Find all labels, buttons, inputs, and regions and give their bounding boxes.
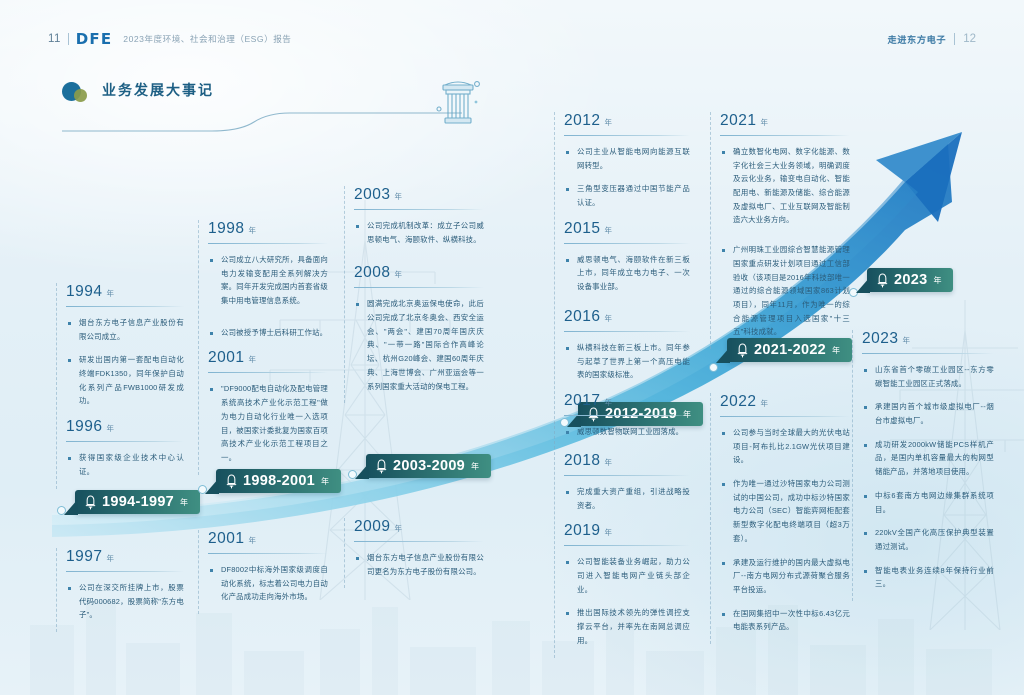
milestone-list: 公司智能装备业务崛起，助力公司进入智能电网产业链头部企业。 推出国际技术领先的弹…	[564, 555, 690, 647]
timeline-column-2018: 2018 年 完成重大资产重组，引进战略投资者。 2019 年 公司智能装备业务…	[554, 452, 690, 658]
year-heading: 2009 年	[354, 518, 484, 536]
year-suffix: 年	[394, 523, 402, 534]
list-item: 智能电表业务连续8年保持行业前三。	[862, 564, 994, 591]
milestone-list: 山东省首个零碳工业园区--东方零碳智能工业园区正式落成。 承建国内首个城市级虚拟…	[862, 363, 994, 591]
year-block: 2001 年 "DF9000配电自动化及配电管理系统高技术产业化示范工程"做为电…	[198, 349, 328, 464]
list-item: "DF9000配电自动化及配电管理系统高技术产业化示范工程"做为电力自动化行业唯…	[208, 382, 328, 464]
year-suffix: 年	[604, 397, 612, 408]
year-block: 2008 年 圆满完成北京奥运保电使命，此后公司完成了北京冬奥会、西安全运会、"…	[344, 264, 484, 393]
year-rule	[66, 441, 184, 442]
milestone-list: 公司参与当时全球最大的光伏电站项目-阿布扎比2.1GW光伏项目建设。 作为唯一通…	[720, 426, 850, 634]
year-rule	[720, 135, 850, 136]
year-heading: 2023 年	[862, 330, 994, 348]
milestone-list: 威思顿数智物联网工业园落成。	[564, 425, 690, 439]
year-rule	[564, 475, 690, 476]
milestone-list: "DF9000配电自动化及配电管理系统高技术产业化示范工程"做为电力自动化行业唯…	[208, 382, 328, 464]
list-item: 公司参与当时全球最大的光伏电站项目-阿布扎比2.1GW光伏项目建设。	[720, 426, 850, 467]
list-item: DF8002中标海外国家级调度自动化系统，标志着公司电力自动化产品成功走向海外市…	[208, 563, 328, 604]
list-item: 纵横科技在新三板上市。同年参与起草了世界上第一个高压电能表的国家级标准。	[564, 341, 690, 382]
year-block: 2023 年 山东省首个零碳工业园区--东方零碳智能工业园区正式落成。 承建国内…	[852, 330, 994, 591]
badge-tail	[716, 347, 730, 363]
year-heading: 2008 年	[354, 264, 484, 282]
list-item: 确立数智化电网、数字化能源、数字化社会三大业务领域，明确调度及云化业务，输变电自…	[720, 145, 850, 227]
year-rule	[862, 353, 994, 354]
timeline-column-2023: 2023 年 山东省首个零碳工业园区--东方零碳智能工业园区正式落成。 承建国内…	[852, 330, 994, 601]
pillar-icon	[432, 76, 484, 126]
year-suffix: 年	[394, 269, 402, 280]
milestone-list: 完成重大资产重组，引进战略投资者。	[564, 485, 690, 512]
list-item: 作为唯一通过沙特国家电力公司测试的中国公司，成功中标沙特国家电力公司（SEC）智…	[720, 477, 850, 545]
badge-suffix: 年	[321, 476, 329, 487]
milestone-icon	[225, 474, 238, 489]
header-right-group: 走进东方电子 12	[887, 32, 976, 46]
badge-anchor-dot	[709, 363, 718, 372]
page-number-left: 11	[48, 33, 61, 45]
year-heading: 2022 年	[720, 393, 850, 411]
title-dots-icon	[62, 82, 92, 102]
year-suffix: 年	[760, 398, 768, 409]
year-number: 2019	[564, 522, 600, 540]
badge-suffix: 年	[471, 461, 479, 472]
page-title: 业务发展大事记	[102, 80, 214, 100]
list-item: 公司成立八大研究所，具备面向电力发输变配用全系列解决方案。同年开发完成国内首套省…	[208, 253, 328, 308]
year-suffix: 年	[248, 354, 256, 365]
report-subtitle: 2023年度环境、社会和治理（ESG）报告	[123, 33, 291, 45]
list-item: 公司智能装备业务崛起，助力公司进入智能电网产业链头部企业。	[564, 555, 690, 596]
era-badge-2003-2009[interactable]: 2003-2009 年	[366, 454, 491, 478]
year-number: 2018	[564, 452, 600, 470]
badge-tail	[856, 277, 870, 293]
year-rule	[354, 287, 484, 288]
year-suffix: 年	[760, 117, 768, 128]
milestone-icon	[375, 459, 388, 474]
year-number: 2009	[354, 518, 390, 536]
list-item: 承建及运行维护的国内最大虚拟电厂--南方电网分布式源荷聚合服务平台投运。	[720, 556, 850, 597]
milestone-icon	[876, 273, 889, 288]
year-rule	[720, 416, 850, 417]
year-rule	[564, 331, 690, 332]
milestone-list: 公司成立八大研究所，具备面向电力发输变配用全系列解决方案。同年开发完成国内首套省…	[208, 253, 328, 339]
page-header: 11 DFE 2023年度环境、社会和治理（ESG）报告 走进东方电子 12	[48, 28, 976, 50]
year-suffix: 年	[604, 117, 612, 128]
year-number: 2003	[354, 186, 390, 204]
list-item: 公司在深交所挂牌上市，股票代码000682，股票简称"东方电子"。	[66, 581, 184, 622]
year-suffix: 年	[902, 335, 910, 346]
list-item: 中标6套南方电网边缘集群系统项目。	[862, 489, 994, 516]
timeline-column-1997: 1997 年 公司在深交所挂牌上市，股票代码000682，股票简称"东方电子"。	[56, 548, 184, 632]
timeline-column-2009: 2009 年 烟台东方电子信息产业股份有限公司更名为东方电子股份有限公司。	[344, 518, 484, 588]
milestone-list: 获得国家级企业技术中心认证。	[66, 451, 184, 478]
badge-label: 1994-1997	[102, 494, 174, 510]
year-number: 2023	[862, 330, 898, 348]
list-item: 公司主业从智能电网向能源互联网转型。	[564, 145, 690, 172]
year-block: 2019 年 公司智能装备业务崛起，助力公司进入智能电网产业链头部企业。 推出国…	[554, 522, 690, 647]
milestone-list: 确立数智化电网、数字化能源、数字化社会三大业务领域，明确调度及云化业务，输变电自…	[720, 145, 850, 339]
list-item: 三角型变压器通过中国节能产品认证。	[564, 182, 690, 209]
milestone-list: 公司完成机制改革：成立子公司威思顿电气、海颐软件、纵横科技。	[354, 219, 484, 246]
year-rule	[564, 545, 690, 546]
section-breadcrumb: 走进东方电子	[887, 32, 946, 46]
timeline-column-2003: 2003 年 公司完成机制改革：成立子公司威思顿电气、海颐软件、纵横科技。 20…	[344, 186, 484, 403]
year-block: 2003 年 公司完成机制改革：成立子公司威思顿电气、海颐软件、纵横科技。	[344, 186, 484, 246]
year-number: 2012	[564, 112, 600, 130]
milestone-list: 公司在深交所挂牌上市，股票代码000682，股票简称"东方电子"。	[66, 581, 184, 622]
year-block: 1994 年 烟台东方电子信息产业股份有限公司成立。 研发出国内第一套配电自动化…	[56, 283, 184, 408]
year-suffix: 年	[106, 423, 114, 434]
year-heading: 2021 年	[720, 112, 850, 130]
year-heading: 2001 年	[208, 349, 328, 367]
year-rule	[66, 571, 184, 572]
milestone-list: 烟台东方电子信息产业股份有限公司更名为东方电子股份有限公司。	[354, 551, 484, 578]
year-heading: 1998 年	[208, 220, 328, 238]
list-item: 研发出国内第一套配电自动化终端FDK1350，同年保护自动化系列产品FWB100…	[66, 353, 184, 408]
year-number: 1997	[66, 548, 102, 566]
year-rule	[564, 243, 690, 244]
year-block: 1998 年 公司成立八大研究所，具备面向电力发输变配用全系列解决方案。同年开发…	[198, 220, 328, 339]
year-rule	[208, 553, 328, 554]
milestone-icon	[84, 495, 97, 510]
year-heading: 2012 年	[564, 112, 690, 130]
timeline-column-1998: 1998 年 公司成立八大研究所，具备面向电力发输变配用全系列解决方案。同年开发…	[198, 220, 328, 475]
timeline-column-1994: 1994 年 烟台东方电子信息产业股份有限公司成立。 研发出国内第一套配电自动化…	[56, 283, 184, 489]
year-block: 2009 年 烟台东方电子信息产业股份有限公司更名为东方电子股份有限公司。	[344, 518, 484, 578]
year-rule	[354, 209, 484, 210]
list-item: 成功研发2000kW储能PCS样机产品，是国内单机容量最大的构网型储能产品，并落…	[862, 438, 994, 479]
milestone-list: 公司主业从智能电网向能源互联网转型。 三角型变压器通过中国节能产品认证。	[564, 145, 690, 210]
year-suffix: 年	[248, 225, 256, 236]
year-number: 1998	[208, 220, 244, 238]
year-block: 2018 年 完成重大资产重组，引进战略投资者。	[554, 452, 690, 512]
year-number: 2021	[720, 112, 756, 130]
year-block: 2021 年 确立数智化电网、数字化能源、数字化社会三大业务领域，明确调度及云化…	[710, 112, 850, 339]
year-suffix: 年	[604, 457, 612, 468]
year-block: 2022 年 公司参与当时全球最大的光伏电站项目-阿布扎比2.1GW光伏项目建设…	[710, 393, 850, 634]
year-suffix: 年	[604, 527, 612, 538]
year-suffix: 年	[106, 288, 114, 299]
year-number: 1994	[66, 283, 102, 301]
year-rule	[564, 135, 690, 136]
list-item: 承建国内首个城市级虚拟电厂--烟台市虚拟电厂。	[862, 400, 994, 427]
year-rule	[208, 372, 328, 373]
list-item: 威思顿电气、海颐软件在新三板上市，同年成立电力电子、一次设备事业部。	[564, 253, 690, 294]
year-number: 2015	[564, 220, 600, 238]
list-item: 公司被授予博士后科研工作站。	[208, 326, 328, 340]
year-heading: 2018 年	[564, 452, 690, 470]
badge-tail	[64, 499, 78, 515]
list-item: 在国网集招中一次性中标6.43亿元电能表系列产品。	[720, 607, 850, 634]
year-rule	[354, 541, 484, 542]
list-item: 公司完成机制改革：成立子公司威思顿电气、海颐软件、纵横科技。	[354, 219, 484, 246]
list-item: 山东省首个零碳工业园区--东方零碳智能工业园区正式落成。	[862, 363, 994, 390]
year-rule	[564, 415, 690, 416]
list-item: 获得国家级企业技术中心认证。	[66, 451, 184, 478]
milestone-list: DF8002中标海外国家级调度自动化系统，标志着公司电力自动化产品成功走向海外市…	[208, 563, 328, 604]
era-badge-2023[interactable]: 2023 年	[867, 268, 953, 292]
year-heading: 1996 年	[66, 418, 184, 436]
year-block: 2017 年 威思顿数智物联网工业园落成。	[554, 392, 690, 439]
year-block: 2016 年 纵横科技在新三板上市。同年参与起草了世界上第一个高压电能表的国家级…	[554, 308, 690, 382]
header-divider	[68, 33, 69, 45]
year-number: 2001	[208, 349, 244, 367]
badge-label: 1998-2001	[243, 473, 315, 489]
year-heading: 2003 年	[354, 186, 484, 204]
milestone-list: 烟台东方电子信息产业股份有限公司成立。 研发出国内第一套配电自动化终端FDK13…	[66, 316, 184, 408]
year-number: 2016	[564, 308, 600, 326]
year-heading: 2015 年	[564, 220, 690, 238]
badge-suffix: 年	[933, 275, 941, 286]
timeline-column-2012: 2012 年 公司主业从智能电网向能源互联网转型。 三角型变压器通过中国节能产品…	[554, 112, 690, 449]
timeline-column-2022: 2022 年 公司参与当时全球最大的光伏电站项目-阿布扎比2.1GW光伏项目建设…	[710, 393, 850, 644]
year-block: 1997 年 公司在深交所挂牌上市，股票代码000682，股票简称"东方电子"。	[56, 548, 184, 622]
year-number: 2022	[720, 393, 756, 411]
badge-tail	[355, 463, 369, 479]
list-item: 推出国际技术领先的弹性调控支撑云平台，并率先在南网总调应用。	[564, 606, 690, 647]
year-rule	[208, 243, 328, 244]
list-item: 圆满完成北京奥运保电使命，此后公司完成了北京冬奥会、西安全运会、"两会"、建国7…	[354, 297, 484, 393]
year-heading: 2016 年	[564, 308, 690, 326]
section-title-block: 业务发展大事记	[52, 76, 472, 120]
year-number: 2017	[564, 392, 600, 410]
list-item: 烟台东方电子信息产业股份有限公司成立。	[66, 316, 184, 343]
year-number: 1996	[66, 418, 102, 436]
year-suffix: 年	[604, 313, 612, 324]
page-number-right: 12	[963, 33, 976, 45]
year-rule	[66, 306, 184, 307]
year-block: 2015 年 威思顿电气、海颐软件在新三板上市，同年成立电力电子、一次设备事业部…	[554, 220, 690, 294]
badge-tail	[205, 478, 219, 494]
milestone-list: 纵横科技在新三板上市。同年参与起草了世界上第一个高压电能表的国家级标准。	[564, 341, 690, 382]
list-item: 烟台东方电子信息产业股份有限公司更名为东方电子股份有限公司。	[354, 551, 484, 578]
badge-suffix: 年	[180, 497, 188, 508]
year-heading: 2017 年	[564, 392, 690, 410]
timeline-column-2001-lower: 2001 年 DF8002中标海外国家级调度自动化系统，标志着公司电力自动化产品…	[198, 530, 328, 614]
timeline-column-2021: 2021 年 确立数智化电网、数字化能源、数字化社会三大业务领域，明确调度及云化…	[710, 112, 850, 349]
badge-label: 2023	[894, 272, 927, 288]
list-item: 威思顿数智物联网工业园落成。	[564, 425, 690, 439]
year-suffix: 年	[106, 553, 114, 564]
year-block: 2001 年 DF8002中标海外国家级调度自动化系统，标志着公司电力自动化产品…	[198, 530, 328, 604]
year-heading: 2019 年	[564, 522, 690, 540]
era-badge-1994-1997[interactable]: 1994-1997 年	[75, 490, 200, 514]
list-item: 220kV全国产化高压保护典型装置通过测试。	[862, 526, 994, 553]
year-block: 1996 年 获得国家级企业技术中心认证。	[56, 418, 184, 478]
list-item: 完成重大资产重组，引进战略投资者。	[564, 485, 690, 512]
dot-secondary	[74, 89, 87, 102]
company-logo: DFE	[76, 30, 113, 48]
year-suffix: 年	[604, 225, 612, 236]
year-suffix: 年	[248, 535, 256, 546]
year-number: 2008	[354, 264, 390, 282]
badge-label: 2003-2009	[393, 458, 465, 474]
year-block: 2012 年 公司主业从智能电网向能源互联网转型。 三角型变压器通过中国节能产品…	[554, 112, 690, 210]
milestone-list: 圆满完成北京奥运保电使命，此后公司完成了北京冬奥会、西安全运会、"两会"、建国7…	[354, 297, 484, 393]
year-heading: 2001 年	[208, 530, 328, 548]
header-divider	[954, 33, 955, 45]
title-underline	[62, 112, 462, 132]
header-left-group: 11 DFE 2023年度环境、社会和治理（ESG）报告	[48, 30, 291, 48]
milestone-list: 威思顿电气、海颐软件在新三板上市，同年成立电力电子、一次设备事业部。	[564, 253, 690, 294]
year-heading: 1994 年	[66, 283, 184, 301]
list-item: 广州明珠工业园综合智慧能源管理国家重点研发计划项目通过工信部验收（该项目是201…	[720, 243, 850, 339]
year-suffix: 年	[394, 191, 402, 202]
year-number: 2001	[208, 530, 244, 548]
year-heading: 1997 年	[66, 548, 184, 566]
